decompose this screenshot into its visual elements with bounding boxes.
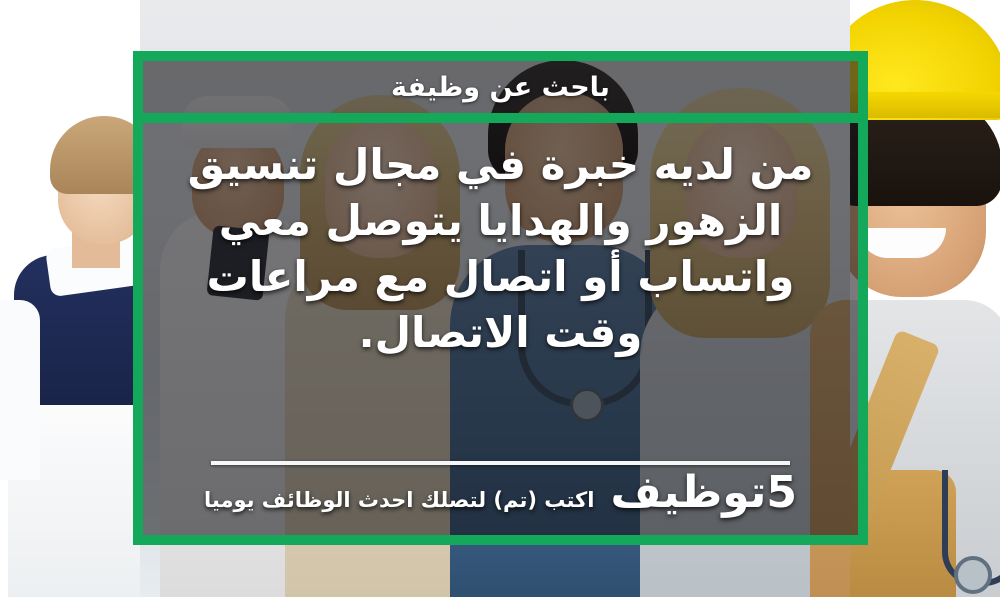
subscribe-instruction-text: اكتب (تم) لتصلك احدث الوظائف يوميا bbox=[204, 490, 594, 511]
worker-hard-hat-brim-shape bbox=[850, 92, 1000, 118]
footer-zone: 5توظيف اكتب (تم) لتصلك احدث الوظائف يومي… bbox=[143, 449, 858, 535]
green-frame-card: باحث عن وظيفة من لديه خبرة في مجال تنسيق… bbox=[133, 51, 868, 545]
brand-logo-text: 5توظيف bbox=[610, 471, 797, 515]
page-title: باحث عن وظيفة bbox=[391, 72, 610, 103]
left-figure-hair-shape bbox=[50, 116, 140, 194]
footer-divider-line bbox=[211, 461, 790, 465]
right-stethoscope-bell-shape bbox=[954, 556, 992, 594]
header-bar: باحث عن وظيفة bbox=[143, 61, 858, 113]
right-figure-photo bbox=[850, 0, 1000, 597]
left-figure-photo bbox=[0, 0, 140, 597]
header-green-divider bbox=[143, 113, 858, 123]
ad-body-text: من لديه خبرة في مجال تنسيق الزهور والهدا… bbox=[143, 123, 858, 360]
body-panel: من لديه خبرة في مجال تنسيق الزهور والهدا… bbox=[143, 123, 858, 535]
footer-row: 5توظيف اكتب (تم) لتصلك احدث الوظائف يومي… bbox=[143, 471, 858, 515]
left-figure-shoulder-shape bbox=[0, 300, 40, 480]
job-ad-poster: باحث عن وظيفة من لديه خبرة في مجال تنسيق… bbox=[0, 0, 1000, 597]
